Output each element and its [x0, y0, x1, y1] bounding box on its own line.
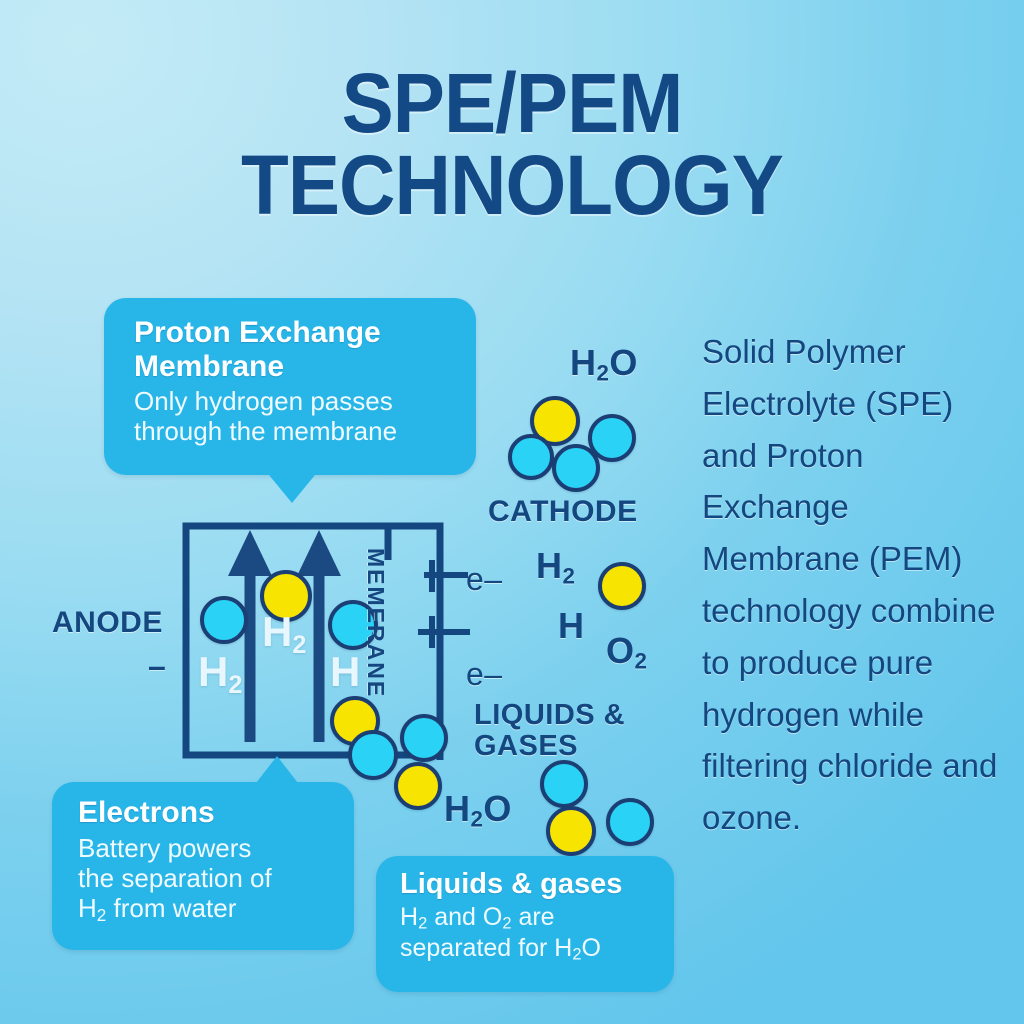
molecule-cyan: [588, 414, 636, 462]
liquids-gases-label: LIQUIDS & GASES: [474, 700, 654, 763]
molecule-cyan: [606, 798, 654, 846]
cell-inner-label-1: H2: [198, 648, 242, 700]
molecule-yellow: [598, 562, 646, 610]
cell-inner-label-3: H: [330, 648, 360, 696]
callout-body: Battery powers the separation of H2 from…: [78, 833, 334, 926]
callout-proton-exchange-membrane: Proton Exchange Membrane Only hydrogen p…: [104, 298, 476, 475]
electron-label-top: e–: [466, 561, 503, 598]
liquids-gases-line-2: GASES: [474, 730, 578, 762]
h-label-cathode: H: [558, 605, 585, 647]
electron-label-bottom: e–: [466, 656, 503, 693]
callout-tail: [269, 475, 315, 503]
anode-label: ANODE: [52, 606, 163, 640]
callout-heading: Proton Exchange Membrane: [134, 316, 454, 383]
h2o-label-bottom: H2O: [444, 788, 512, 833]
molecule-cyan: [540, 760, 588, 808]
callout-body: Only hydrogen passes through the membran…: [134, 386, 454, 446]
callout-body-line-1: Battery powers: [78, 833, 251, 863]
cathode-label: CATHODE: [488, 495, 638, 529]
infographic-canvas: SPE/PEM TECHNOLOGY Solid Polymer Electro…: [0, 0, 1024, 1024]
o2-label-cathode: O2: [606, 630, 647, 675]
callout-electrons: Electrons Battery powers the separation …: [52, 782, 354, 950]
callout-body-line-3: H2 from water: [78, 893, 236, 923]
liquids-gases-line-1: LIQUIDS &: [474, 699, 625, 731]
molecule-yellow: [394, 762, 442, 810]
anode-sign: –: [148, 648, 166, 685]
molecule-cyan: [508, 434, 554, 480]
cell-inner-label-2: H2: [262, 608, 306, 660]
callout-body-line-2: the separation of: [78, 863, 272, 893]
callout-body: H2 and O2 are separated for H2O: [400, 903, 656, 965]
callout-heading: Liquids & gases: [400, 868, 656, 900]
h2-label-cathode: H2: [536, 545, 575, 590]
h2o-label-top: H2O: [570, 342, 638, 387]
callout-body-line-2: separated for H2O: [400, 934, 601, 962]
molecule-cyan: [348, 730, 398, 780]
callout-body-line-1: H2 and O2 are: [400, 903, 555, 931]
molecule-yellow: [546, 806, 596, 856]
callout-heading: Electrons: [78, 796, 334, 830]
molecule-cyan: [200, 596, 248, 644]
callout-tail: [256, 756, 298, 783]
molecule-cyan: [400, 714, 448, 762]
callout-liquids-and-gases: Liquids & gases H2 and O2 are separated …: [376, 856, 674, 992]
membrane-vertical-label: MEMERANE: [362, 548, 389, 698]
